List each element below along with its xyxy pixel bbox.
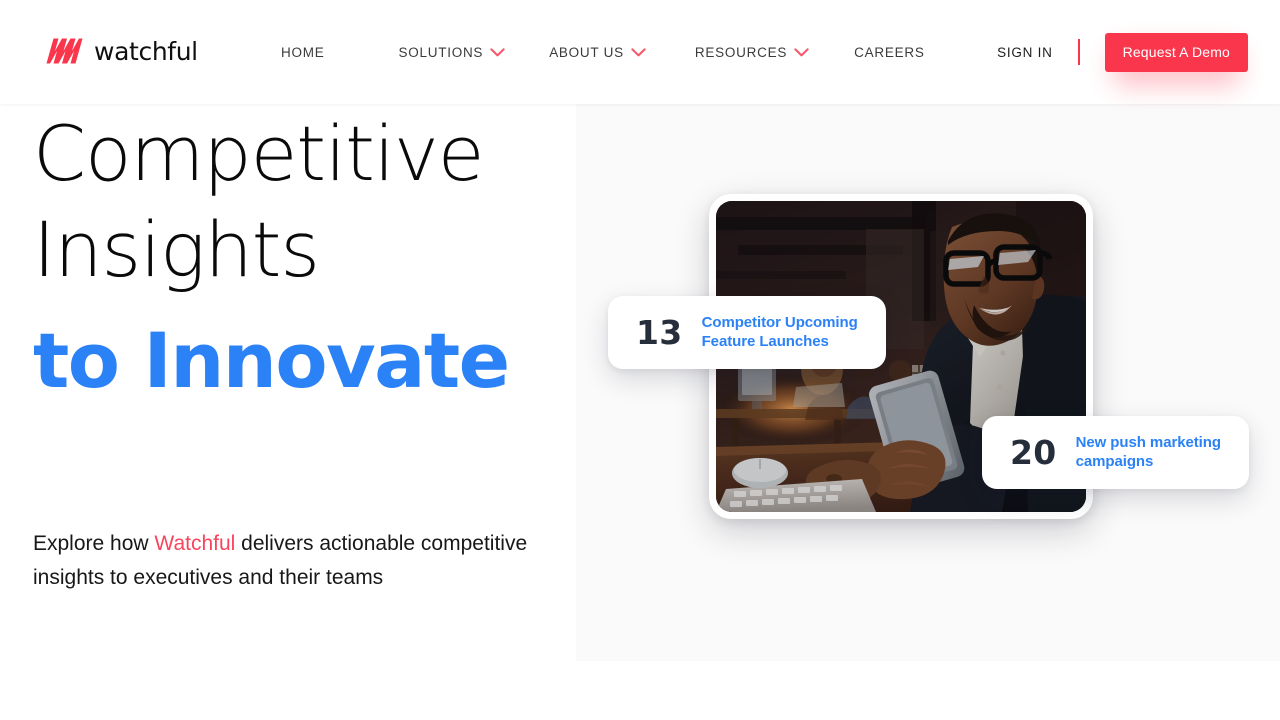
nav-item-careers-label: CAREERS — [854, 45, 924, 60]
sign-in-link[interactable]: SIGN IN — [997, 45, 1052, 60]
stat-card-number: 13 — [636, 316, 683, 349]
headline-line-1: Competitive — [33, 106, 553, 202]
headline-line-3-accent: to Innovate — [33, 313, 553, 409]
stat-card-number: 20 — [1010, 436, 1057, 469]
request-demo-wrapper: Request A Demo — [1105, 33, 1248, 72]
stat-card-label-line-2: Feature Launches — [702, 333, 829, 350]
chevron-down-icon — [490, 48, 505, 57]
stat-card-feature-launches: 13 Competitor Upcoming Feature Launches — [608, 296, 886, 369]
main-navigation: HOME SOLUTIONS ABOUT US — [281, 0, 925, 104]
nav-item-solutions[interactable]: SOLUTIONS — [398, 0, 505, 104]
hero-section: Competitive Insights to Innovate Explore… — [0, 104, 1280, 720]
nav-item-home-label: HOME — [281, 45, 324, 60]
site-header: watchful HOME SOLUTIONS ABOUT US — [0, 0, 1280, 104]
stat-card-label-line-1: New push marketing — [1076, 434, 1221, 451]
stat-card-label-line-1: Competitor Upcoming — [702, 314, 858, 331]
subhead-text-before: Explore how — [33, 532, 154, 555]
hero-subheadline: Explore how Watchful delivers actionable… — [33, 527, 578, 595]
nav-item-resources[interactable]: RESOURCES — [695, 0, 809, 104]
stat-card-push-campaigns: 20 New push marketing campaigns — [982, 416, 1249, 489]
nav-item-solutions-label: SOLUTIONS — [398, 45, 483, 60]
nav-item-about-us[interactable]: ABOUT US — [549, 0, 646, 104]
logo-wordmark: watchful — [94, 39, 198, 64]
site-logo[interactable]: watchful — [46, 38, 198, 64]
stat-card-label-line-2: campaigns — [1076, 453, 1154, 470]
headline-line-2: Insights — [33, 202, 553, 298]
hero-visual: 13 Competitor Upcoming Feature Launches … — [576, 104, 1280, 661]
stat-card-label: Competitor Upcoming Feature Launches — [702, 313, 858, 351]
chevron-down-icon — [794, 48, 809, 57]
hero-text-column: Competitive Insights to Innovate Explore… — [0, 104, 576, 661]
header-actions: SIGN IN Request A Demo — [997, 0, 1248, 104]
stat-card-label: New push marketing campaigns — [1076, 433, 1221, 471]
header-divider — [1078, 39, 1080, 65]
request-demo-button[interactable]: Request A Demo — [1105, 33, 1248, 72]
page-title: Competitive Insights to Innovate — [33, 106, 553, 409]
nav-item-careers[interactable]: CAREERS — [854, 0, 924, 104]
nav-item-resources-label: RESOURCES — [695, 45, 787, 60]
chevron-down-icon — [631, 48, 646, 57]
page-root: watchful HOME SOLUTIONS ABOUT US — [0, 0, 1280, 720]
nav-item-home[interactable]: HOME — [281, 0, 324, 104]
nav-item-about-us-label: ABOUT US — [549, 45, 624, 60]
hero-visual-panel: 13 Competitor Upcoming Feature Launches … — [576, 104, 1280, 661]
watchful-zigzag-logo-icon — [46, 38, 83, 64]
subhead-brand-word: Watchful — [154, 532, 235, 555]
